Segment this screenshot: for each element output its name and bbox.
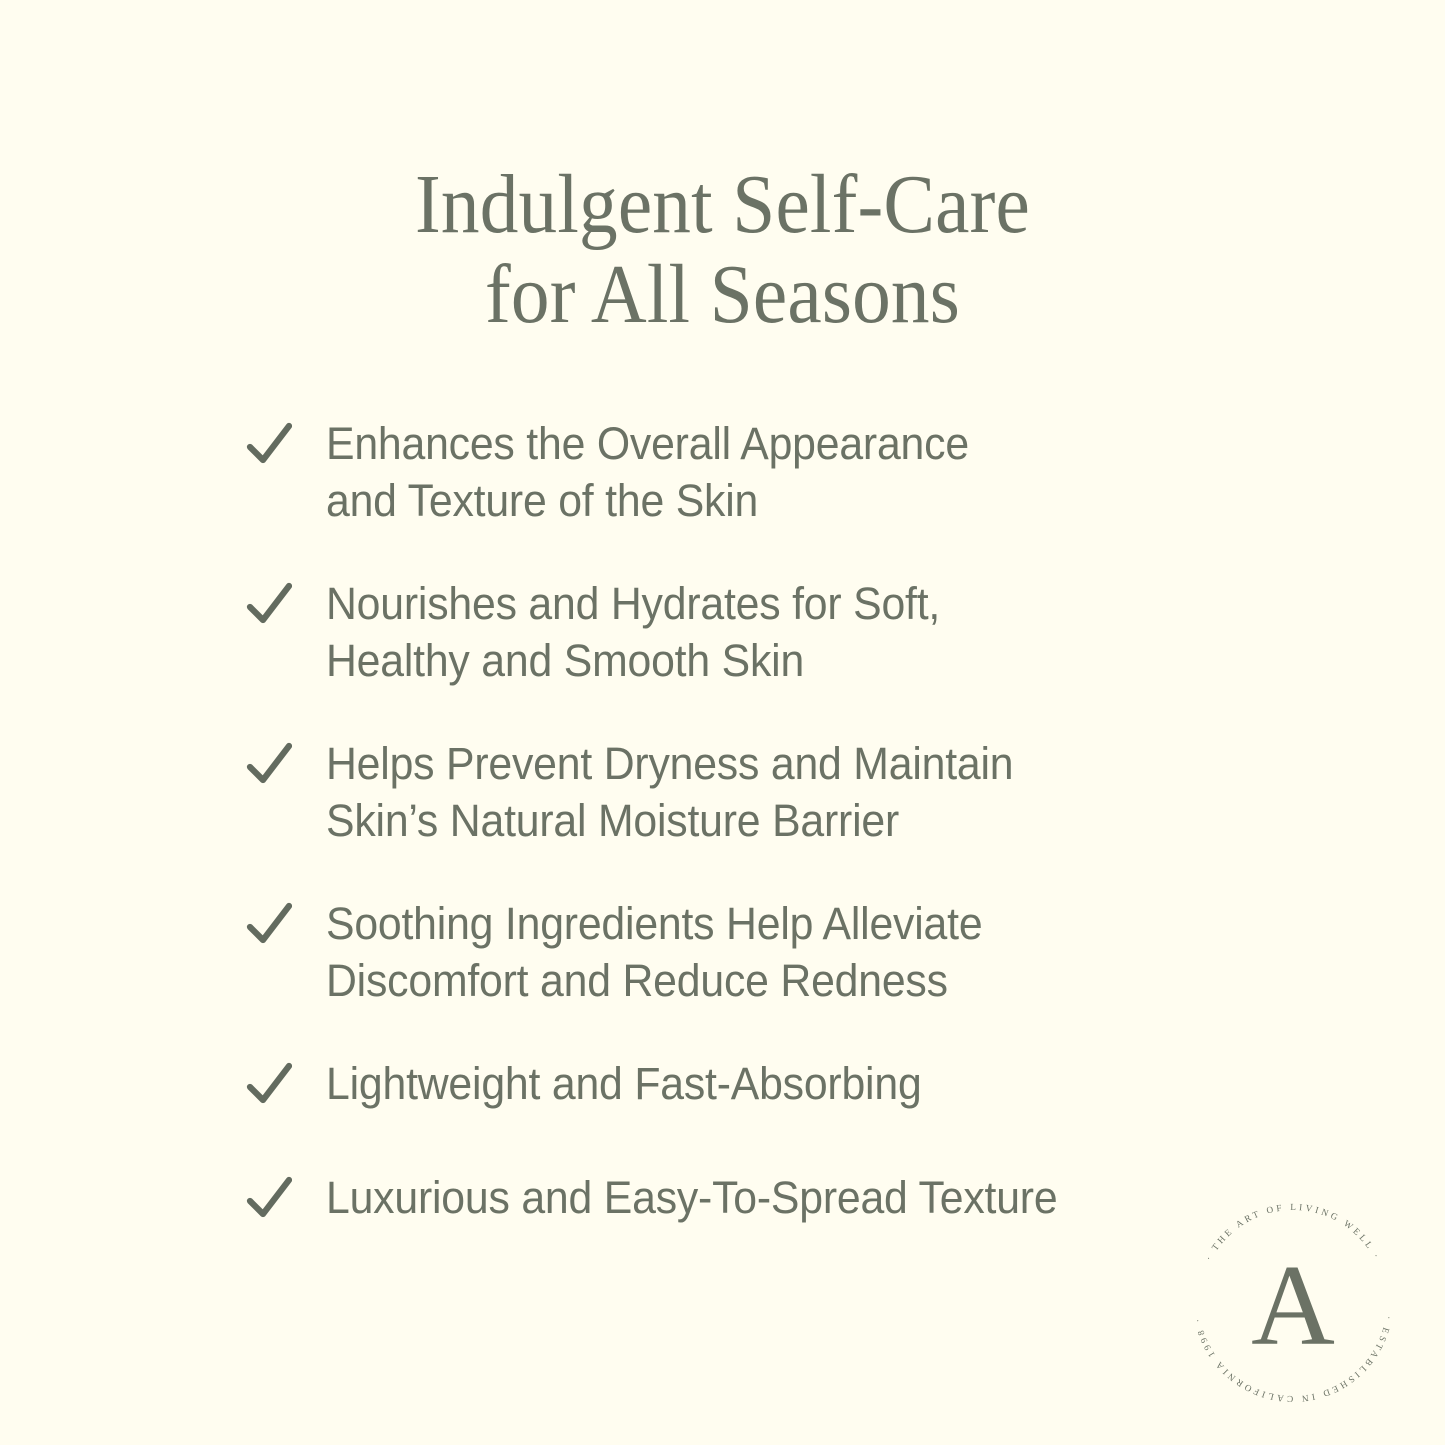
page-title-line-2: for All Seasons: [58, 250, 1387, 340]
check-icon: [246, 1061, 306, 1117]
benefits-list: Enhances the Overall Appearance and Text…: [240, 415, 1200, 1283]
list-item-line-1: Soothing Ingredients Help Alleviate: [326, 898, 982, 949]
list-item: Nourishes and Hydrates for Soft, Healthy…: [240, 575, 1200, 689]
list-item-line-2: Skin’s Natural Moisture Barrier: [326, 792, 1156, 849]
page-title-line-1: Indulgent Self-Care: [58, 160, 1387, 250]
list-item-text: Lightweight and Fast-Absorbing: [326, 1055, 1156, 1112]
list-item-line-1: Luxurious and Easy-To-Spread Texture: [326, 1172, 1057, 1223]
list-item: Helps Prevent Dryness and Maintain Skin’…: [240, 735, 1200, 849]
list-item-line-1: Enhances the Overall Appearance: [326, 418, 969, 469]
list-item-line-1: Lightweight and Fast-Absorbing: [326, 1058, 922, 1109]
list-item-line-1: Nourishes and Hydrates for Soft,: [326, 578, 940, 629]
list-item-line-1: Helps Prevent Dryness and Maintain: [326, 738, 1013, 789]
brand-seal-logo: · THE ART OF LIVING WELL · · ESTABLISHED…: [1183, 1192, 1403, 1412]
list-item-line-2: and Texture of the Skin: [326, 472, 1156, 529]
list-item: Enhances the Overall Appearance and Text…: [240, 415, 1200, 529]
check-icon: [246, 741, 306, 797]
list-item-text: Enhances the Overall Appearance and Text…: [326, 415, 1156, 529]
check-icon: [246, 901, 306, 957]
list-item-text: Luxurious and Easy-To-Spread Texture: [326, 1169, 1156, 1226]
check-icon: [246, 421, 306, 477]
check-icon: [246, 581, 306, 637]
list-item-text: Soothing Ingredients Help Alleviate Disc…: [326, 895, 1156, 1009]
list-item: Luxurious and Easy-To-Spread Texture: [240, 1169, 1200, 1231]
list-item-line-2: Discomfort and Reduce Redness: [326, 952, 1156, 1009]
list-item-text: Nourishes and Hydrates for Soft, Healthy…: [326, 575, 1156, 689]
list-item: Soothing Ingredients Help Alleviate Disc…: [240, 895, 1200, 1009]
list-item: Lightweight and Fast-Absorbing: [240, 1055, 1200, 1117]
page-title: Indulgent Self-Care for All Seasons: [0, 160, 1445, 340]
poster-canvas: Indulgent Self-Care for All Seasons Enha…: [0, 0, 1445, 1445]
list-item-line-2: Healthy and Smooth Skin: [326, 632, 1156, 689]
list-item-text: Helps Prevent Dryness and Maintain Skin’…: [326, 735, 1156, 849]
check-icon: [246, 1175, 306, 1231]
seal-monogram-letter: A: [1251, 1242, 1335, 1370]
